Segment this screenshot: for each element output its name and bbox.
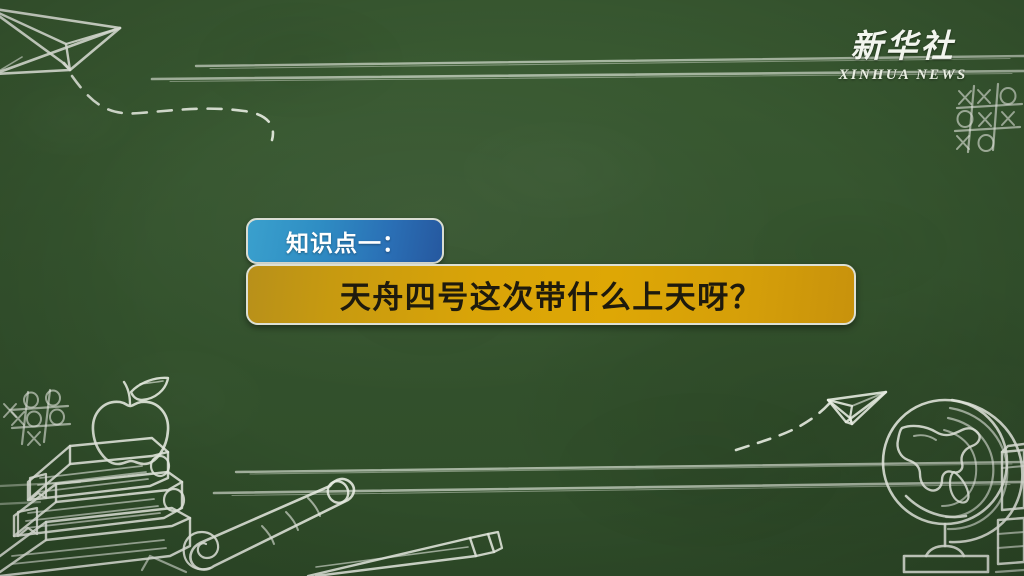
question-banner: 天舟四号这次带什么上天呀？ [246,264,856,325]
knowledge-point-label: 知识点一： [248,220,442,262]
question-text: 天舟四号这次带什么上天呀？ [248,266,854,323]
title-block: 知识点一： 天舟四号这次带什么上天呀？ [246,218,444,269]
title-card-screen: 新华社 XINHUA NEWS 知识点一： 天舟四号这次带什么上天呀？ [0,0,1024,576]
knowledge-point-badge: 知识点一： [246,218,444,264]
